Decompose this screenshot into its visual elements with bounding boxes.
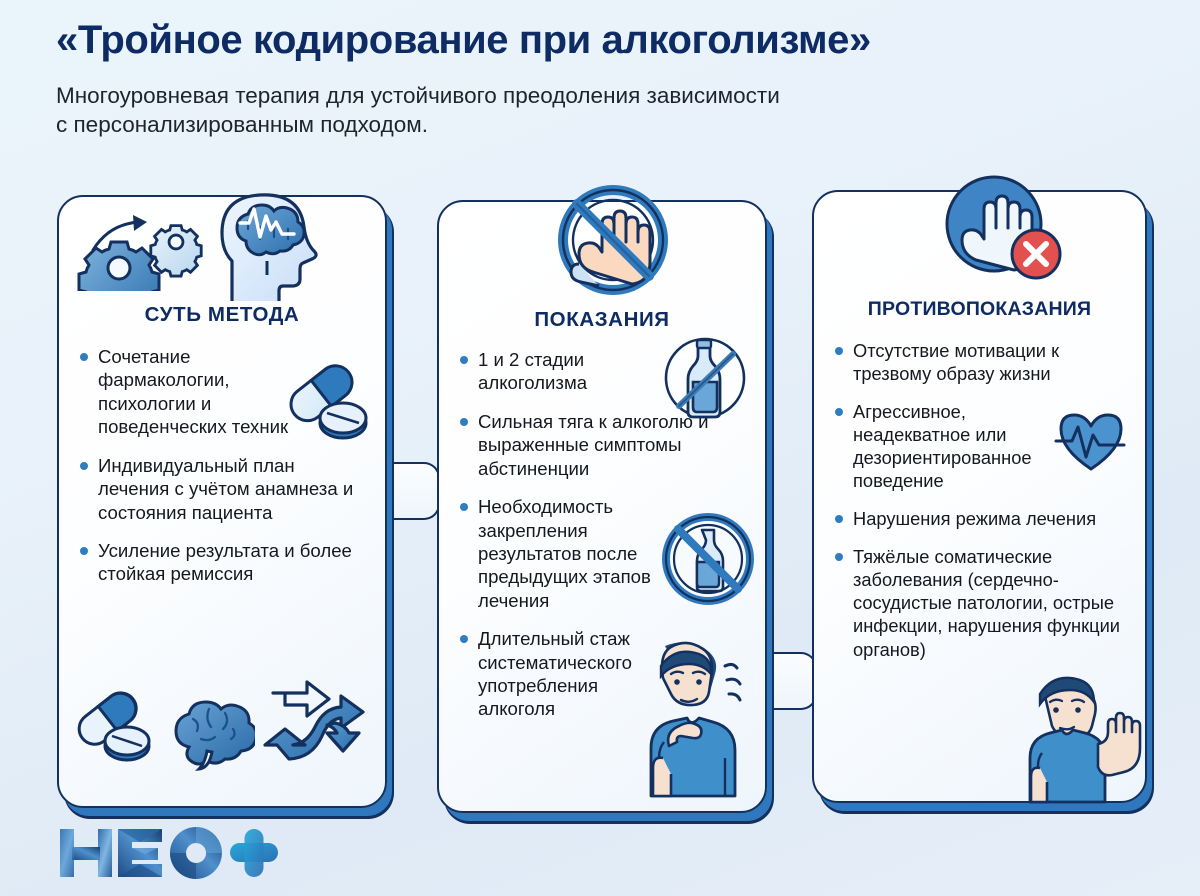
list-item: Агрессивное, неадекватное или дезориенти… bbox=[832, 400, 1127, 492]
page-title: «Тройное кодирование при алкоголизме» bbox=[56, 18, 1166, 63]
logo-glyphs bbox=[58, 825, 280, 881]
connector-card1-card2 bbox=[385, 462, 440, 520]
infographic-page: «Тройное кодирование при алкоголизме» Мн… bbox=[0, 0, 1200, 896]
list-item: Тяжёлые соматические заболевания (сердеч… bbox=[832, 545, 1127, 660]
brain-icon bbox=[163, 689, 255, 775]
list-item: Нарушения режима лечения bbox=[832, 507, 1127, 530]
list-item: Усиление результата и более стойкая реми… bbox=[77, 539, 367, 586]
card-sut-metoda: СУТЬ МЕТОДА Сочетание фармакологии, псих… bbox=[57, 195, 387, 808]
card-3-bullets: Отсутствие мотивации к трезвому образу ж… bbox=[832, 339, 1127, 661]
card-1-title: СУТЬ МЕТОДА bbox=[77, 303, 367, 327]
shuffle-arrows-icon bbox=[255, 671, 371, 771]
list-item: Длительный стаж систематического употреб… bbox=[457, 627, 747, 721]
header: «Тройное кодирование при алкоголизме» Мн… bbox=[56, 18, 1166, 140]
hand-stop-red-x-icon bbox=[936, 168, 1068, 292]
man-raised-hand-icon bbox=[1026, 670, 1148, 806]
card-3-title: ПРОТИВОПОКАЗАНИЯ bbox=[832, 298, 1127, 321]
gears-icon bbox=[75, 195, 207, 291]
card-protivopokazaniya: ПРОТИВОПОКАЗАНИЯ Отсутствие мотивации к … bbox=[812, 190, 1147, 803]
card-2-header-icons bbox=[457, 202, 747, 306]
neo-plus-logo[interactable] bbox=[58, 828, 280, 878]
page-subtitle: Многоуровневая терапия для устойчивого п… bbox=[56, 81, 1166, 140]
card-1-bullets: Сочетание фармакологии, психологии и пов… bbox=[77, 345, 367, 586]
list-item: Необходимость закрепления результатов по… bbox=[457, 495, 747, 612]
list-item: Отсутствие мотивации к трезвому образу ж… bbox=[832, 339, 1127, 385]
card-2-bullets: 1 и 2 стадии алкоголизма Сильная тяга к … bbox=[457, 348, 747, 721]
card-3-header-icons bbox=[832, 192, 1127, 296]
subtitle-line-2: с персонализированным подходом. bbox=[56, 110, 1166, 140]
subtitle-line-1: Многоуровневая терапия для устойчивого п… bbox=[56, 81, 1166, 111]
no-hand-prohibition-icon bbox=[549, 180, 677, 304]
list-item: Индивидуальный план лечения с учётом ана… bbox=[77, 454, 367, 524]
card-1-header-icons bbox=[77, 197, 367, 301]
head-brain-pulse-icon bbox=[202, 183, 352, 305]
card-2-title: ПОКАЗАНИЯ bbox=[457, 308, 747, 332]
pill-capsule-tablet-icon bbox=[66, 687, 158, 773]
card-pokazaniya: ПОКАЗАНИЯ 1 и 2 стадии алкоголизма Сильн… bbox=[437, 200, 767, 813]
list-item: 1 и 2 стадии алкоголизма bbox=[457, 348, 747, 395]
list-item: Сильная тяга к алкоголю и выраженные сим… bbox=[457, 410, 747, 480]
list-item: Сочетание фармакологии, психологии и пов… bbox=[77, 345, 367, 439]
connector-card2-card3 bbox=[762, 652, 817, 710]
